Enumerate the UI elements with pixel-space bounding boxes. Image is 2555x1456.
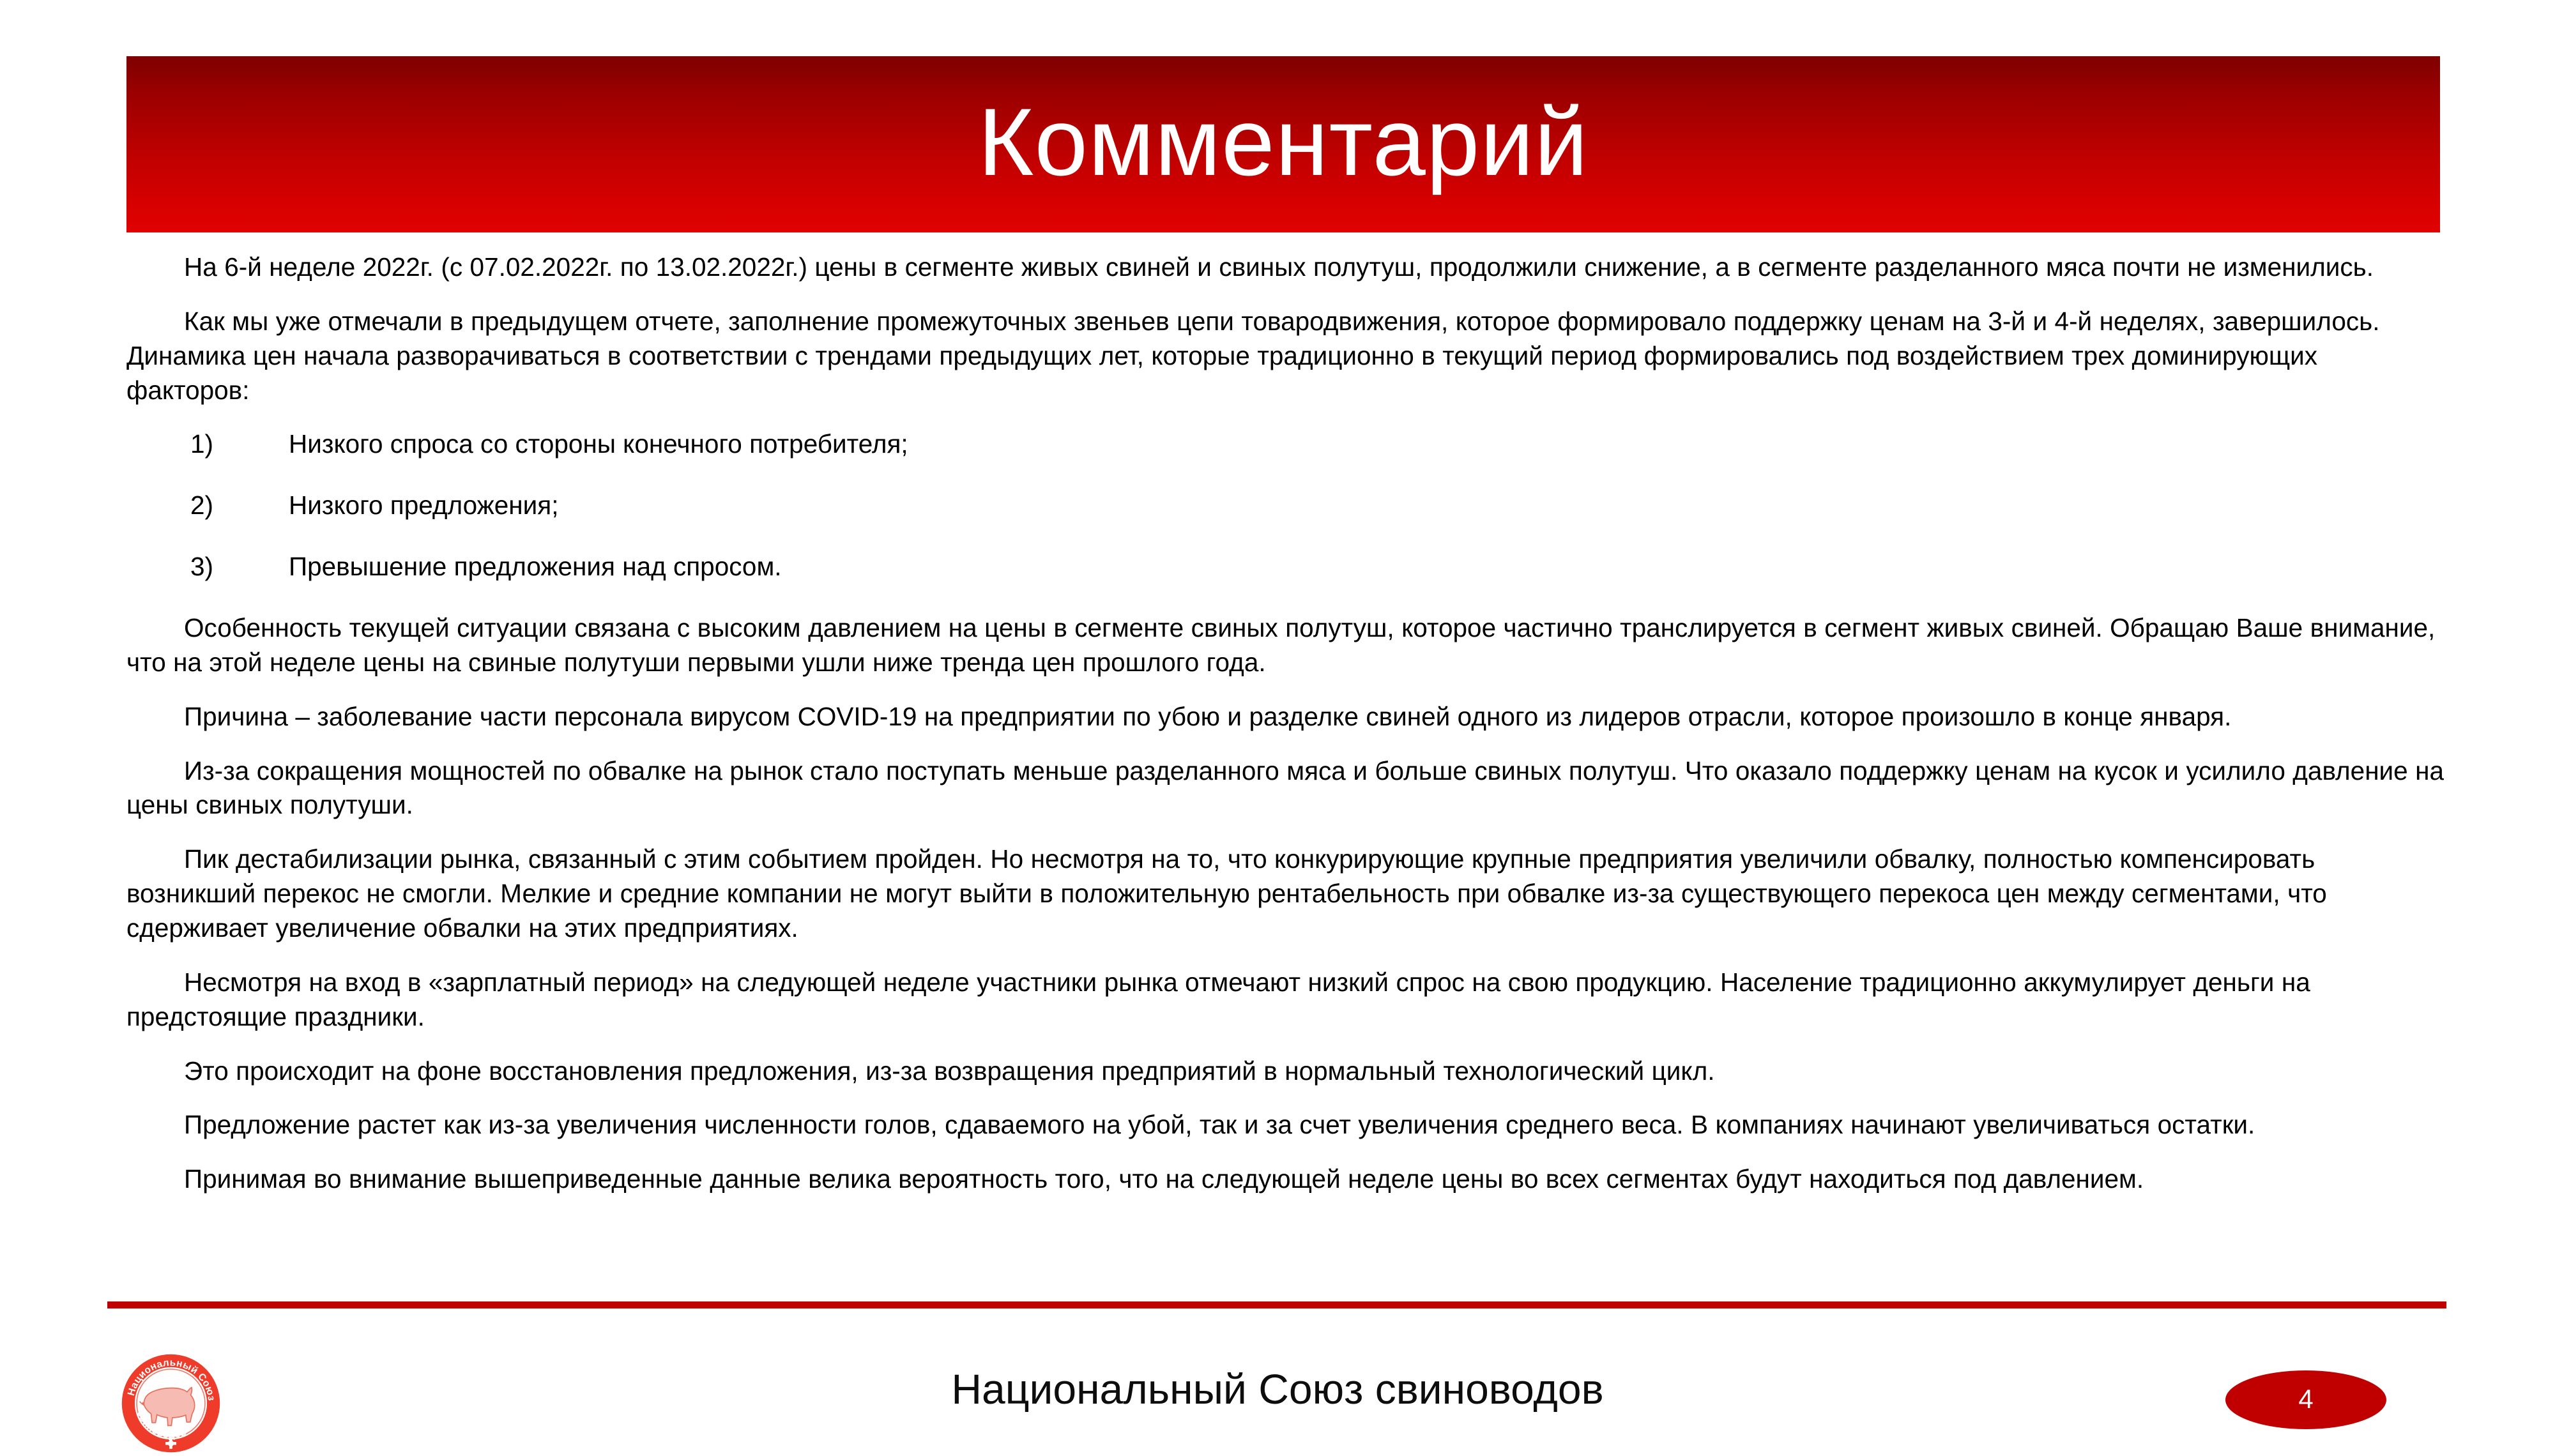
list-item: 1) Низкого спроса со стороны конечного п… xyxy=(126,427,2445,462)
paragraph-text: Принимая во внимание вышеприведенные дан… xyxy=(184,1164,2144,1194)
paragraph-p5: Из-за сокращения мощностей по обвалке на… xyxy=(126,754,2445,823)
paragraph-p4: Причина – заболевание части персонала ви… xyxy=(126,700,2445,734)
list-item-label: Превышение предложения над спросом. xyxy=(289,550,782,584)
paragraph-text: Пик дестабилизации рынка, связанный с эт… xyxy=(126,844,2327,943)
paragraph-p8: Это происходит на фоне восстановления пр… xyxy=(126,1054,2445,1089)
list-item-label: Низкого спроса со стороны конечного потр… xyxy=(289,427,908,462)
list-item-label: Низкого предложения; xyxy=(289,489,558,523)
list-item-number: 3) xyxy=(190,550,218,584)
title-banner: Комментарий xyxy=(126,56,2440,232)
paragraph-text: Несмотря на вход в «зарплатный период» н… xyxy=(126,967,2310,1031)
page-title: Комментарий xyxy=(978,94,1589,190)
numbered-list: 1) Низкого спроса со стороны конечного п… xyxy=(126,427,2445,584)
list-item: 2) Низкого предложения; xyxy=(126,489,2445,523)
footer-divider xyxy=(107,1301,2446,1308)
paragraph-text: Предложение растет как из-за увеличения … xyxy=(184,1110,2255,1139)
paragraph-p3: Особенность текущей ситуации связана с в… xyxy=(126,611,2445,680)
paragraph-text: На 6-й неделе 2022г. (с 07.02.2022г. по … xyxy=(184,252,2374,282)
page-number-label: 4 xyxy=(2298,1386,2313,1413)
page-number-badge: 4 xyxy=(2225,1370,2386,1429)
slide-canvas: Комментарий На 6-й неделе 2022г. (с 07.0… xyxy=(0,0,2555,1437)
list-item-number: 2) xyxy=(190,489,218,523)
paragraph-p9: Предложение растет как из-за увеличения … xyxy=(126,1108,2445,1142)
paragraph-text: Как мы уже отмечали в предыдущем отчете,… xyxy=(126,307,2380,405)
paragraph-text: Причина – заболевание части персонала ви… xyxy=(184,702,2231,731)
paragraph-p7: Несмотря на вход в «зарплатный период» н… xyxy=(126,966,2445,1035)
paragraph-p1: На 6-й неделе 2022г. (с 07.02.2022г. по … xyxy=(126,250,2445,285)
slide-footer: Национальный Союз свиноводов Национальны… xyxy=(0,1310,2555,1437)
body-content: На 6-й неделе 2022г. (с 07.02.2022г. по … xyxy=(126,250,2445,1217)
paragraph-p2: Как мы уже отмечали в предыдущем отчете,… xyxy=(126,305,2445,408)
footer-organization-name: Национальный Союз свиноводов xyxy=(0,1368,2555,1410)
paragraph-p10: Принимая во внимание вышеприведенные дан… xyxy=(126,1162,2445,1197)
paragraph-p6: Пик дестабилизации рынка, связанный с эт… xyxy=(126,842,2445,946)
paragraph-text: Особенность текущей ситуации связана с в… xyxy=(126,613,2435,677)
list-item-number: 1) xyxy=(190,427,218,462)
list-item: 3) Превышение предложения над спросом. xyxy=(126,550,2445,584)
paragraph-text: Из-за сокращения мощностей по обвалке на… xyxy=(126,756,2444,820)
paragraph-text: Это происходит на фоне восстановления пр… xyxy=(184,1056,1715,1086)
